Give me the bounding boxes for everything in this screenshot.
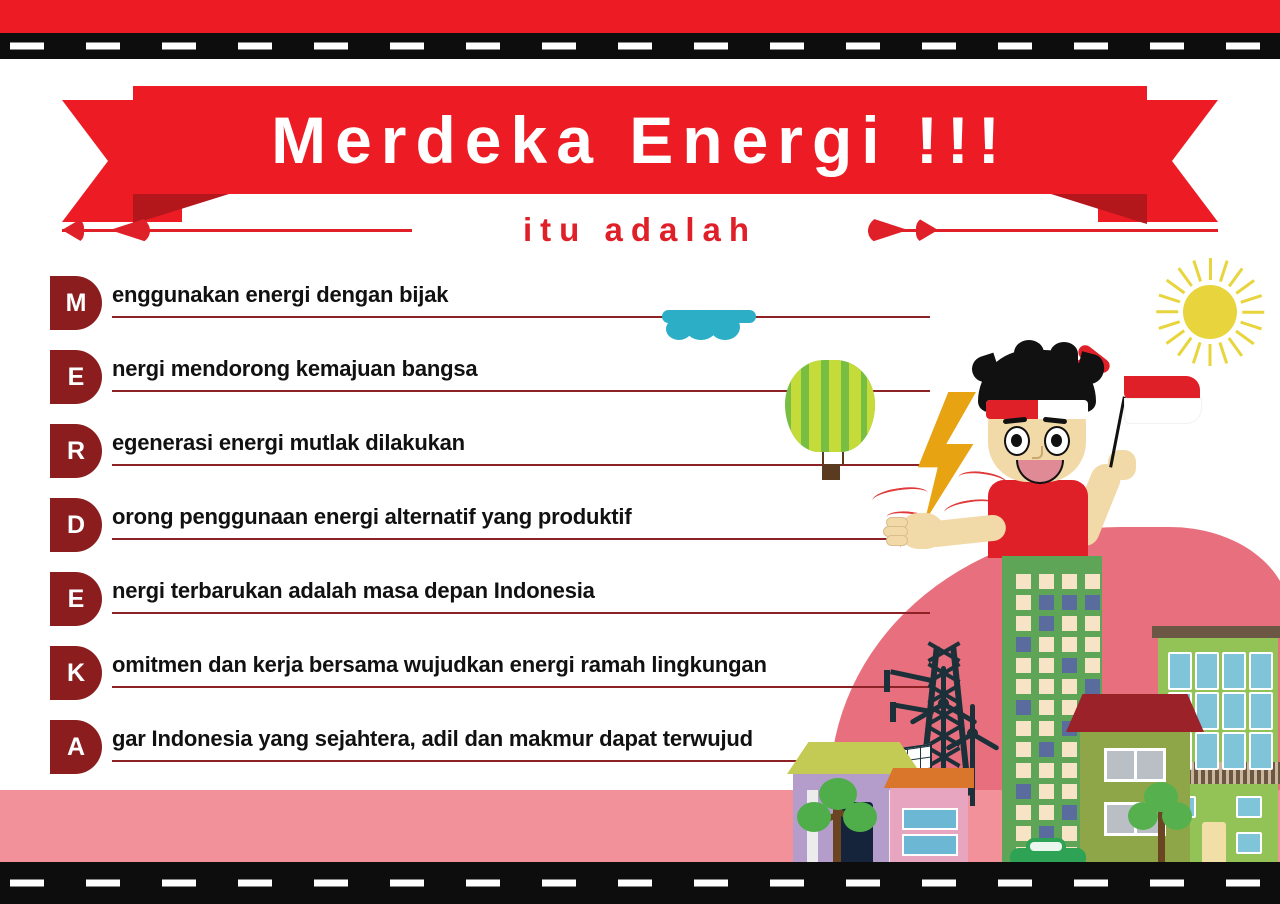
left-arrow-rule: [62, 208, 412, 252]
apartment-window: [1195, 652, 1219, 690]
acronym-badge: M: [50, 276, 102, 330]
acronym-badge: R: [50, 424, 102, 478]
apartment-window: [1249, 692, 1273, 730]
tower-window: [1016, 658, 1031, 673]
acronym-badge: E: [50, 350, 102, 404]
tower-window: [1039, 574, 1054, 589]
tower-window: [1016, 721, 1031, 736]
tower-window: [1016, 742, 1031, 757]
apartment-window: [1222, 692, 1246, 730]
eye-left: [1004, 426, 1030, 456]
tower-window: [1062, 658, 1077, 673]
tower-window: [1062, 742, 1077, 757]
acronym-text: omitmen dan kerja bersama wujudkan energ…: [112, 642, 930, 688]
apartment-window: [1168, 652, 1192, 690]
indonesian-flag-icon: [1124, 376, 1200, 424]
tower-window: [1016, 700, 1031, 715]
subtitle-row: itu adalah: [62, 208, 1218, 252]
tower-window: [1039, 700, 1054, 715]
tower-window: [1039, 658, 1054, 673]
tower-window: [1085, 658, 1100, 673]
tower-window: [1062, 784, 1077, 799]
acronym-body: omitmen dan kerja bersama wujudkan energ…: [112, 642, 930, 688]
right-arrow-rule: [868, 208, 1218, 252]
tower-window: [1039, 742, 1054, 757]
tower-window: [1016, 763, 1031, 778]
sun-ray: [1235, 279, 1254, 294]
apartment-window: [1222, 732, 1246, 770]
acronym-badge: K: [50, 646, 102, 700]
apartment-window-small: [1236, 832, 1262, 854]
subtitle: itu adalah: [412, 211, 868, 249]
poster-canvas: Merdeka Energi !!! itu adalah Menggunaka…: [0, 0, 1280, 904]
tower-window: [1039, 595, 1054, 610]
tower-window: [1016, 616, 1031, 631]
tower-window: [1039, 616, 1054, 631]
hot-air-balloon-icon: [785, 360, 875, 480]
sun-icon: [1156, 258, 1264, 366]
top-red-band: [0, 0, 1280, 33]
apartment-window: [1249, 732, 1273, 770]
road-dashes-bottom: [0, 880, 1280, 887]
acronym-badge: D: [50, 498, 102, 552]
sun-ray: [1240, 321, 1262, 330]
tower-window: [1039, 721, 1054, 736]
acronym-row: Energi terbarukan adalah masa depan Indo…: [50, 568, 930, 642]
acronym-row: Menggunakan energi dengan bijak: [50, 272, 930, 346]
tower-window: [1016, 637, 1031, 652]
sun-ray: [1159, 294, 1181, 303]
sun-ray: [1192, 342, 1201, 364]
acronym-text: orong penggunaan energi alternatif yang …: [112, 494, 930, 540]
nose: [1032, 446, 1043, 459]
tower-window: [1016, 784, 1031, 799]
tree-icon: [795, 778, 879, 864]
tower-window: [1016, 574, 1031, 589]
tower-window: [1085, 616, 1100, 631]
headband: [986, 400, 1088, 419]
sun-ray: [1166, 330, 1185, 345]
tower-window: [1085, 574, 1100, 589]
acronym-badge: E: [50, 572, 102, 626]
acronym-text: nergi terbarukan adalah masa depan Indon…: [112, 568, 930, 614]
small-house-icon: [890, 786, 968, 864]
apartment-window-small: [1236, 796, 1262, 818]
tower-window: [1062, 595, 1077, 610]
sun-ray: [1192, 260, 1201, 282]
tower-window: [1062, 763, 1077, 778]
apartment-window: [1222, 652, 1246, 690]
sun-ray: [1242, 311, 1264, 314]
acronym-badge: A: [50, 720, 102, 774]
tower-window: [1039, 679, 1054, 694]
sun-ray: [1235, 330, 1254, 345]
tower-window: [1016, 595, 1031, 610]
tower-window: [1039, 637, 1054, 652]
acronym-text: enggunakan energi dengan bijak: [112, 272, 930, 318]
tower-window: [1085, 637, 1100, 652]
apartment-window: [1249, 652, 1273, 690]
sun-ray: [1219, 342, 1228, 364]
sun-ray: [1166, 279, 1185, 294]
title-ribbon: Merdeka Energi !!!: [0, 86, 1280, 206]
tower-window: [1039, 805, 1054, 820]
tower-window: [1062, 616, 1077, 631]
sun-ray: [1240, 294, 1262, 303]
acronym-list: Menggunakan energi dengan bijakEnergi me…: [50, 272, 930, 790]
cloud-icon: [662, 310, 756, 340]
acronym-body: nergi terbarukan adalah masa depan Indon…: [112, 568, 930, 614]
sun-ray: [1209, 258, 1212, 280]
tower-window: [1039, 763, 1054, 778]
sun-ray: [1177, 268, 1192, 287]
sun-ray: [1177, 337, 1192, 356]
tower-window: [1039, 784, 1054, 799]
road-dashes: [0, 43, 1280, 50]
sun-ray: [1219, 260, 1228, 282]
tower-window: [1085, 595, 1100, 610]
tree-icon-2: [1128, 782, 1194, 864]
tower-window: [1016, 679, 1031, 694]
sun-ray: [1228, 337, 1243, 356]
sun-ray: [1159, 321, 1181, 330]
tower-window: [1062, 637, 1077, 652]
apartment-window: [1195, 732, 1219, 770]
open-hand: [900, 513, 944, 549]
tower-window: [1062, 574, 1077, 589]
tower-window: [1062, 679, 1077, 694]
acronym-body: orong penggunaan energi alternatif yang …: [112, 494, 930, 540]
tower-window: [1085, 679, 1100, 694]
eye-right: [1044, 426, 1070, 456]
boy-character-icon: [940, 350, 1170, 580]
sun-ray: [1209, 344, 1212, 366]
acronym-row: Komitmen dan kerja bersama wujudkan ener…: [50, 642, 930, 716]
acronym-body: enggunakan energi dengan bijak: [112, 272, 930, 318]
sun-ray: [1156, 311, 1178, 314]
page-title: Merdeka Energi !!!: [0, 86, 1280, 194]
bottom-road-strip: [0, 862, 1280, 904]
top-road-strip: [0, 33, 1280, 59]
tower-window: [1062, 805, 1077, 820]
acronym-row: Dorong penggunaan energi alternatif yang…: [50, 494, 930, 568]
sun-ray: [1228, 268, 1243, 287]
tower-window: [1016, 805, 1031, 820]
